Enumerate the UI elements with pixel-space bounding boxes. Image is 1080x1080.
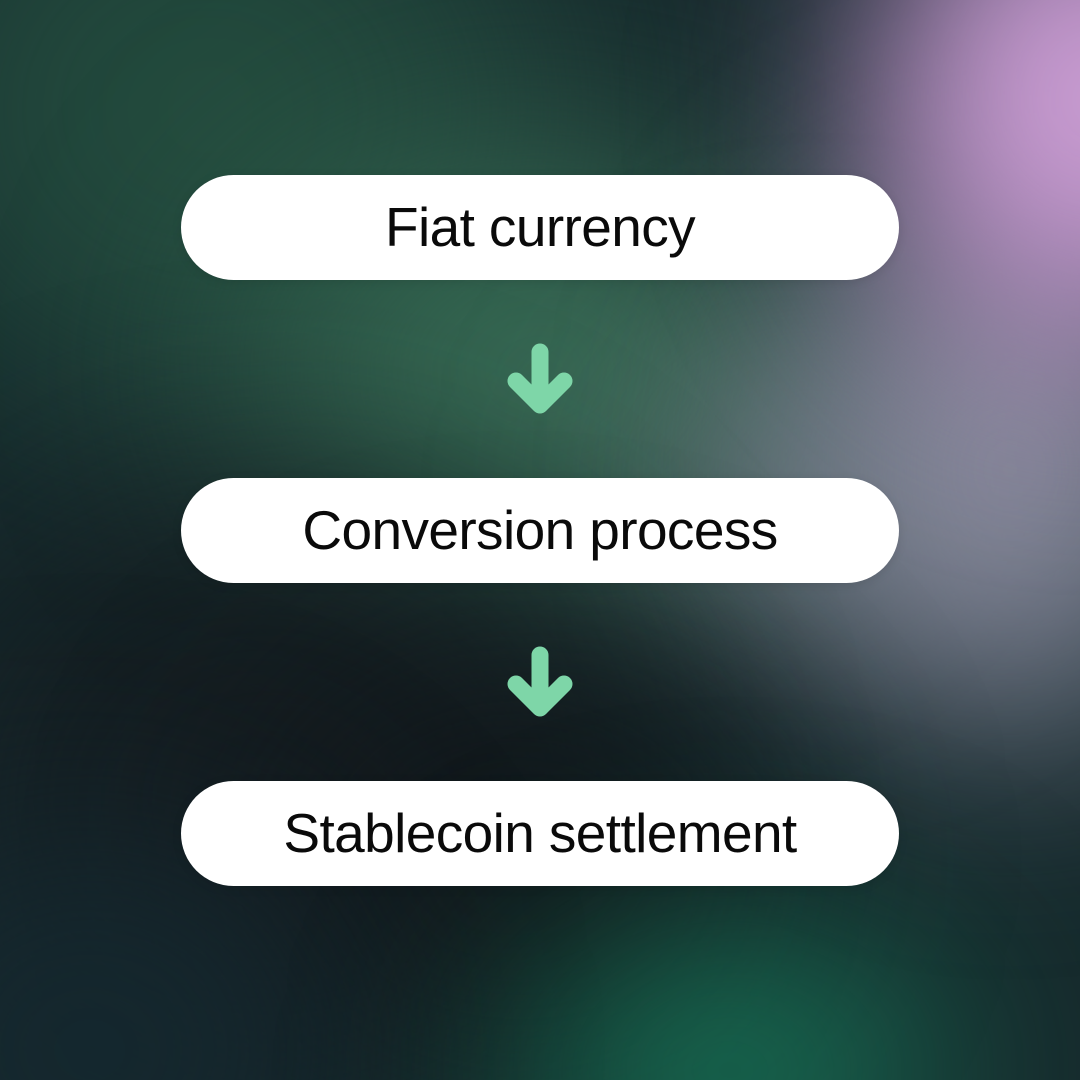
flow-step-label: Stablecoin settlement xyxy=(283,806,796,861)
arrow-down-icon xyxy=(501,643,579,721)
arrow-down-icon xyxy=(501,340,579,418)
flow-step-label: Conversion process xyxy=(302,503,777,558)
flow-connector-1 xyxy=(181,280,899,478)
flow-container: Fiat currency Conversion process Sta xyxy=(181,175,899,886)
flow-step-stablecoin-settlement[interactable]: Stablecoin settlement xyxy=(181,781,899,886)
flow-step-conversion-process[interactable]: Conversion process xyxy=(181,478,899,583)
flow-graphic-canvas: Fiat currency Conversion process Sta xyxy=(0,0,1080,1080)
flow-connector-2 xyxy=(181,583,899,781)
flow-step-label: Fiat currency xyxy=(385,200,695,255)
flow-step-fiat-currency[interactable]: Fiat currency xyxy=(181,175,899,280)
